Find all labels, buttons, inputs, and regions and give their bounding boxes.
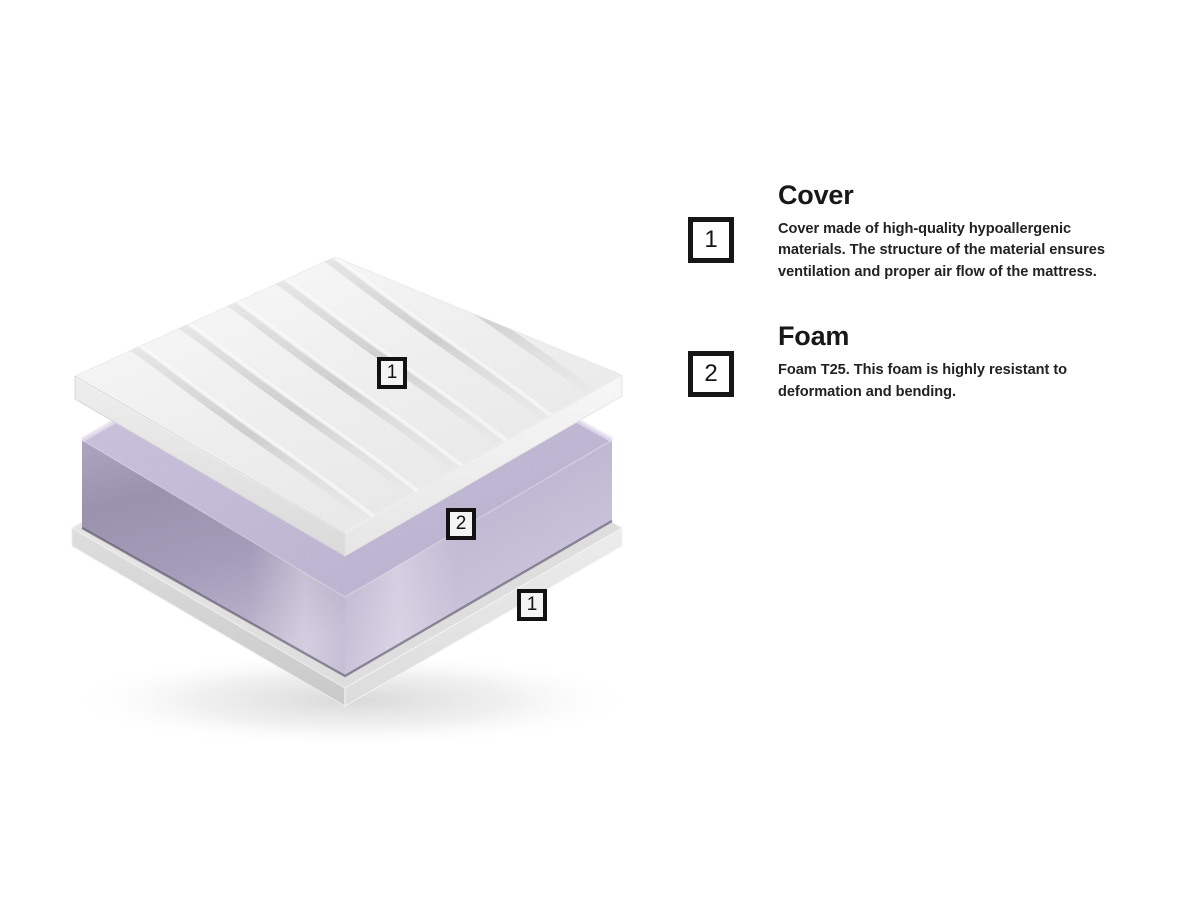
mattress-cutaway-svg: [0, 0, 700, 899]
legend-description-cover: Cover made of high-quality hypoallergeni…: [778, 219, 1140, 283]
legend-description-foam: Foam T25. This foam is highly resistant …: [778, 360, 1140, 403]
product-illustration: 1 2 1: [0, 0, 700, 899]
legend-title-cover: Cover: [778, 178, 1158, 212]
badge-foam[interactable]: 2: [446, 508, 476, 540]
badge-cover-base[interactable]: 1: [517, 589, 547, 621]
legend-body-cover: Cover Cover made of high-quality hypoall…: [734, 178, 1158, 283]
legend-item-cover: 1 Cover Cover made of high-quality hypoa…: [688, 178, 1158, 283]
badge-cover-top[interactable]: 1: [377, 357, 407, 389]
legend-marker-2: 2: [688, 351, 734, 397]
legend-item-foam: 2 Foam Foam T25. This foam is highly res…: [688, 319, 1158, 403]
legend-marker-1: 1: [688, 217, 734, 263]
legend-title-foam: Foam: [778, 319, 1158, 353]
legend-body-foam: Foam Foam T25. This foam is highly resis…: [734, 319, 1158, 403]
legend-panel: 1 Cover Cover made of high-quality hypoa…: [688, 178, 1158, 439]
